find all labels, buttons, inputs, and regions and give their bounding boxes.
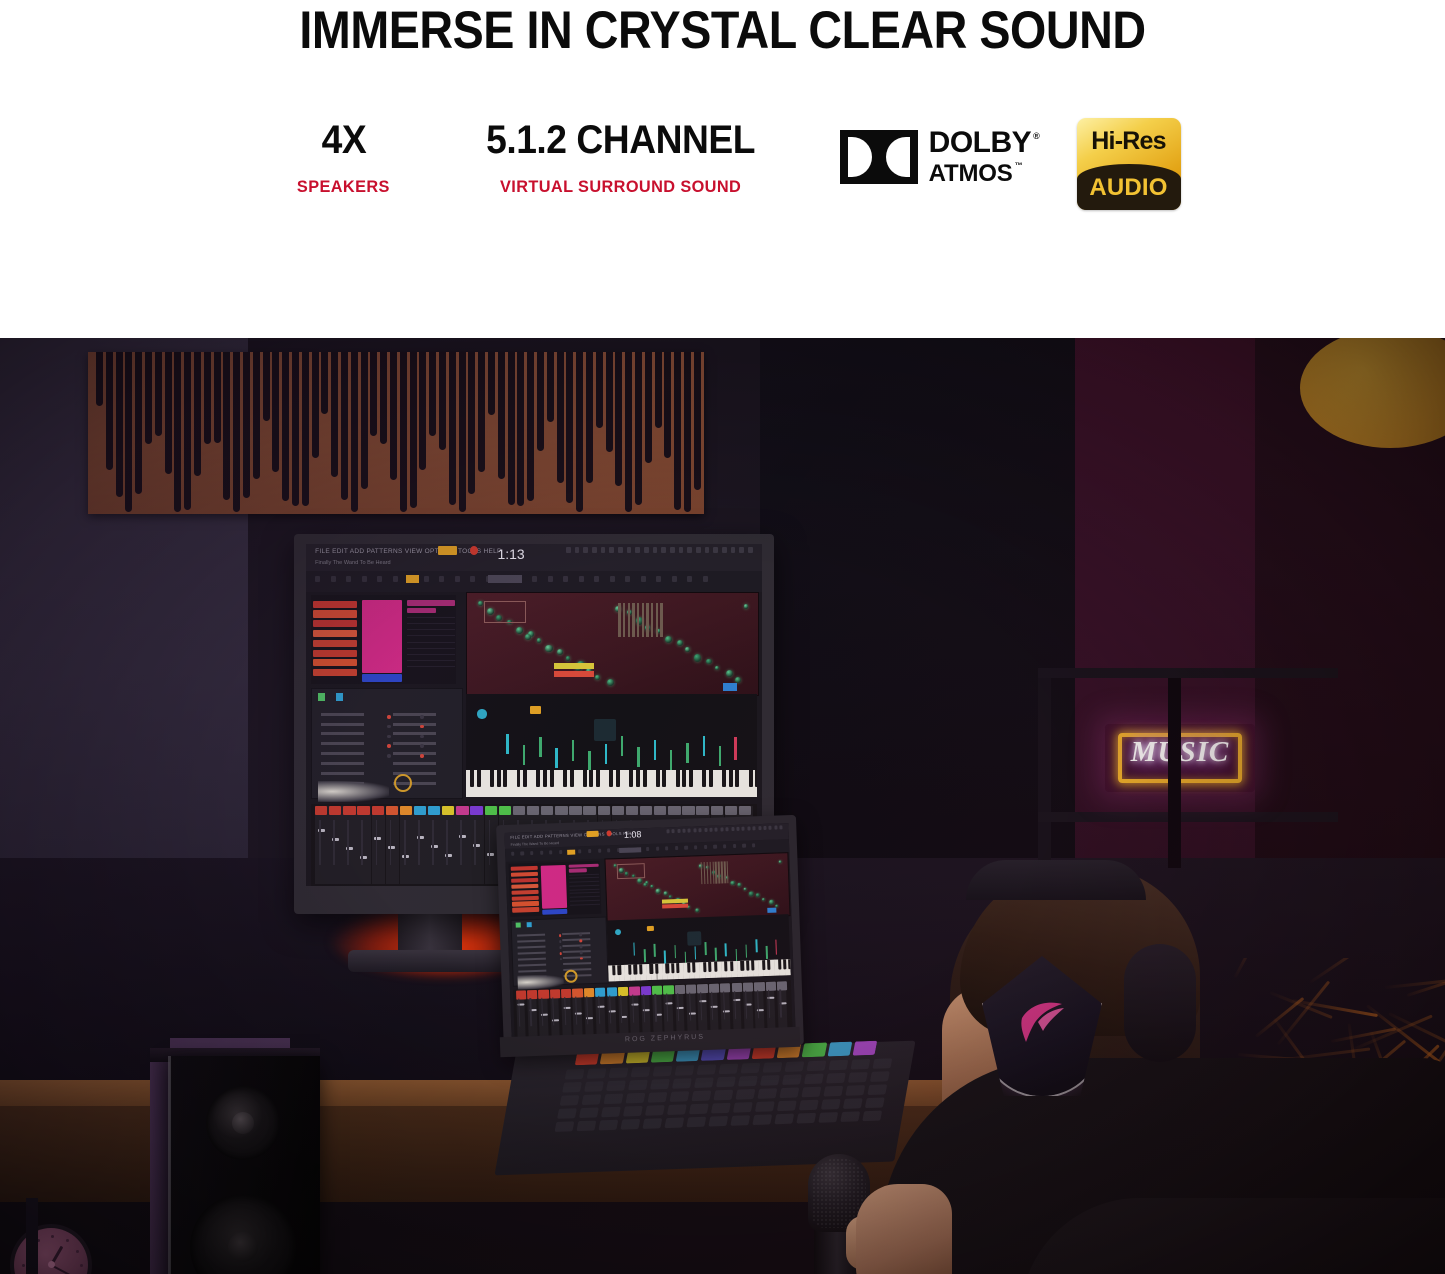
dolby-line2-text: ATMOS [929, 162, 1013, 186]
playlist-clip [313, 659, 357, 666]
dialog-row [563, 938, 591, 941]
daw-toolbar-icon [609, 547, 614, 553]
synth-knob [545, 645, 552, 652]
piano-black-key [762, 960, 766, 970]
synth-knob [769, 900, 774, 905]
piano-black-key [778, 959, 782, 969]
piano-black-key [709, 770, 713, 787]
daw-tool-icon [377, 576, 382, 583]
synth-slider [721, 861, 723, 883]
playlist-pattern-block [362, 600, 403, 673]
dialog-add-icon [318, 693, 326, 701]
mixer-channel-strip [400, 806, 414, 885]
synth-knob [663, 891, 667, 895]
daw-tool-icon [540, 851, 543, 855]
dialog-row [393, 752, 436, 755]
playlist-clip [511, 895, 538, 900]
laptop-key [554, 1121, 574, 1132]
mixer-channel-color [538, 989, 549, 998]
badge-speakers-value: 4X [321, 118, 366, 162]
shelf-board [1038, 812, 1338, 822]
fx-fader [572, 740, 574, 760]
badge-hires-audio: Hi-Res AUDIO [1068, 118, 1190, 210]
laptop-key [675, 1065, 695, 1076]
playlist-gridline [407, 642, 455, 643]
acoustic-slat [615, 352, 622, 486]
fx-fader [605, 744, 607, 764]
dialog-row [321, 752, 364, 755]
daw-playlist-panel [508, 861, 601, 918]
shelf-board-top [1038, 668, 1338, 678]
playlist-clip [313, 610, 357, 617]
synth-knob [749, 891, 754, 896]
mixer-channel-color [654, 806, 666, 815]
synth-knob [762, 898, 765, 901]
piano-black-key [662, 770, 666, 787]
playlist-gridline [570, 896, 600, 898]
daw-toolbar-icon [672, 829, 675, 833]
synth-slider [727, 861, 729, 883]
hires-bottom-text: AUDIO [1077, 174, 1181, 202]
synth-slider [718, 862, 720, 884]
badge-channel: 5.1.2 CHANNEL VIRTUAL SURROUND SOUND [446, 118, 796, 198]
dialog-row [518, 957, 546, 960]
piano-black-key [788, 959, 790, 969]
laptop-key [862, 1111, 882, 1122]
laptop-key [840, 1111, 860, 1122]
dialog-radio [580, 946, 582, 948]
synth-knob [677, 640, 683, 646]
piano-black-key [671, 963, 675, 973]
laptop-key [557, 1108, 577, 1119]
fx-fader [644, 949, 646, 962]
piano-black-key [523, 770, 527, 787]
acoustic-slat [116, 352, 123, 497]
mixer-channel-color [696, 806, 708, 815]
synth-knob [537, 638, 542, 643]
dialog-row [562, 932, 590, 935]
playlist-gridline [569, 888, 599, 890]
piano-black-key [589, 770, 593, 787]
fx-fader [539, 737, 541, 757]
acoustic-slat [96, 352, 103, 406]
acoustic-slat [655, 352, 662, 428]
playlist-gridline [407, 623, 455, 624]
laptop-key [738, 1076, 758, 1087]
synth-value-bar [554, 663, 594, 669]
dialog-add-icon [515, 923, 520, 928]
piano-black-key [687, 963, 691, 973]
daw-tool-icon [742, 844, 745, 848]
synth-knob [613, 864, 616, 867]
playlist-clip [313, 669, 357, 676]
playlist-gridline [407, 654, 455, 655]
playlist-gridline [407, 617, 455, 618]
daw-toolbar-icon [618, 547, 623, 553]
daw-toolbar-icon [566, 547, 571, 553]
synth-knob [779, 860, 782, 863]
daw-toolbar-icon [575, 547, 580, 553]
fx-knob [477, 709, 486, 718]
feature-badge-row: 4X SPEAKERS 5.1.2 CHANNEL VIRTUAL SURROU… [0, 118, 1445, 228]
dialog-row [321, 723, 364, 726]
mixer-channel-color [731, 982, 742, 991]
laptop-key [664, 1117, 684, 1128]
acoustic-slat [194, 352, 201, 476]
playlist-clip [313, 620, 357, 627]
speaker-woofer-cone [228, 1232, 258, 1262]
shelf-post-front [1168, 678, 1181, 868]
piano-black-key [656, 770, 660, 787]
fx-knob [615, 929, 621, 935]
piano-black-key [543, 770, 547, 787]
headphone-stand-arm [26, 1198, 38, 1274]
fx-fader [766, 946, 768, 959]
mixer-fader-track [404, 820, 406, 865]
daw-tool-icon [675, 846, 678, 850]
daw-tool-icon [656, 576, 661, 583]
mixer-channel-strip [343, 806, 357, 885]
speaker-edge-highlight [168, 1056, 171, 1274]
synth-knob [516, 627, 523, 634]
synth-adv-button [723, 683, 737, 691]
clock-tick [76, 1250, 79, 1253]
playlist-gridline [407, 635, 455, 636]
playlist-clip [511, 872, 538, 877]
mixer-channel-color [725, 806, 737, 815]
piano-black-key [517, 770, 521, 787]
daw-application-laptop[interactable]: FILE EDIT ADD PATTERNS VIEW OPTIONS TOOL… [504, 823, 795, 1039]
mixer-channel-color [668, 806, 680, 815]
synth-value-bar [554, 671, 594, 677]
synth-knob [738, 883, 742, 887]
laptop-key [565, 1069, 585, 1080]
hires-top-text: Hi-Res [1077, 127, 1181, 156]
daw-tool-icon [703, 576, 708, 583]
synth-knob [669, 895, 672, 898]
daw-tool-icon [393, 576, 398, 583]
fx-fader [704, 942, 706, 955]
synth-slider [660, 603, 662, 637]
mixer-channel-color [386, 806, 398, 815]
piano-black-key [477, 770, 481, 787]
mixer-channel-color [572, 988, 583, 997]
laptop-key [620, 1119, 640, 1130]
laptop-key [708, 1116, 728, 1127]
acoustic-slat [214, 352, 221, 443]
piano-black-key [702, 770, 706, 787]
piano-black-key [497, 770, 501, 787]
acoustic-slat [390, 352, 397, 480]
piano-black-key [783, 959, 787, 969]
piano-black-key [490, 770, 494, 787]
dialog-radio [387, 754, 391, 758]
laptop-lightbar-segment [802, 1042, 827, 1057]
piano-black-key [676, 770, 680, 787]
daw-toolbar-icon [670, 547, 675, 553]
synth-waveform-display [484, 601, 526, 623]
playlist-clip [542, 909, 568, 915]
playlist-clip [407, 600, 455, 606]
acoustic-slat [165, 352, 172, 474]
daw-tool-icon [563, 576, 568, 583]
piano-black-key [583, 770, 587, 787]
clock-center [48, 1261, 55, 1268]
dialog-row [321, 762, 364, 765]
laptop-keyboard[interactable] [554, 1058, 897, 1136]
dialog-radio [580, 940, 582, 942]
daw-toolbar-icon [763, 826, 766, 830]
daw-toolbar-icon [720, 827, 723, 831]
palm-frond [1234, 958, 1261, 978]
daw-toolbar-icon [704, 828, 707, 832]
laptop-key [691, 1090, 711, 1101]
fx-fader [654, 740, 656, 760]
mixer-channel-color [640, 806, 652, 815]
daw-tool-icon [331, 576, 336, 583]
dialog-row [563, 962, 591, 965]
mixer-channel-color [626, 806, 638, 815]
synth-slider [724, 861, 726, 883]
synth-knob [706, 659, 712, 665]
synth-knob [637, 878, 642, 883]
daw-tool-icon [723, 844, 726, 848]
mixer-channel-strip [456, 806, 470, 885]
mixer-channel-color [682, 806, 694, 815]
acoustic-slat [145, 352, 152, 444]
dialog-row [518, 946, 546, 949]
mixer-channel-color [711, 806, 723, 815]
acoustic-slat [645, 352, 652, 463]
dialog-row [321, 742, 364, 745]
fx-toggle [647, 925, 654, 930]
daw-toolbar-icon [713, 547, 718, 553]
daw-tool-icon [549, 851, 552, 855]
mixer-channel-color [598, 806, 610, 815]
piano-black-key [749, 770, 753, 787]
mixer-channel-strip [414, 806, 428, 885]
daw-tool-icon [594, 576, 599, 583]
playlist-gridline [570, 900, 600, 902]
acoustic-slat [292, 352, 299, 506]
playlist-clip [512, 901, 539, 906]
dialog-row [393, 742, 436, 745]
synth-knob [525, 634, 531, 640]
piano-black-key [639, 964, 643, 974]
acoustic-slat [253, 352, 260, 479]
playlist-clip [569, 869, 587, 873]
clock-tick [22, 1264, 25, 1267]
synth-knob [566, 656, 571, 661]
piano-black-key [629, 770, 633, 787]
mixer-fader-track [361, 820, 363, 865]
laptop-key [642, 1118, 662, 1129]
laptop-key [601, 1107, 621, 1118]
daw-tool-icon [520, 852, 523, 856]
fx-fader [633, 943, 635, 956]
daw-toolbar-icon [627, 547, 632, 553]
daw-tool-icon [646, 847, 649, 851]
laptop-key [752, 1114, 772, 1125]
dialog-radio [387, 725, 391, 729]
laptop-key [818, 1112, 838, 1123]
laptop-key [867, 1084, 887, 1095]
dialog-row [393, 762, 436, 765]
rog-eye-svg [1016, 998, 1070, 1044]
daw-tool-icon [733, 844, 736, 848]
piano-black-key [682, 770, 686, 787]
acoustic-slat [184, 352, 191, 510]
acoustic-slat [282, 352, 289, 501]
synth-waveform-display [617, 863, 646, 879]
badge-channel-value: 5.1.2 CHANNEL [486, 118, 755, 162]
mixer-channel-color [720, 983, 731, 992]
badge-speakers: 4X SPEAKERS [256, 118, 432, 198]
acoustic-slat [576, 352, 583, 512]
mixer-channel-strip [386, 806, 400, 885]
playlist-clip [313, 640, 357, 647]
laptop-key [796, 1113, 816, 1124]
daw-active-tool [406, 575, 418, 583]
dialog-row [393, 723, 436, 726]
fx-fader [670, 750, 672, 770]
laptop-key [579, 1107, 599, 1118]
mixer-channel-color [315, 806, 327, 815]
daw-tool-icon [530, 851, 533, 855]
synth-knob [650, 885, 653, 888]
fx-fader [654, 944, 656, 957]
palm-frond [1309, 958, 1358, 984]
dialog-row [563, 944, 591, 947]
acoustic-slat [606, 352, 613, 452]
dialog-row [393, 713, 436, 716]
piano-black-key [612, 965, 616, 975]
laptop-key [716, 1077, 736, 1088]
acoustic-slat [312, 352, 319, 458]
daw-menu-items: FILE EDIT ADD PATTERNS VIEW OPTIONS TOOL… [510, 831, 635, 840]
playlist-clip [511, 878, 538, 883]
dialog-radio [559, 934, 561, 936]
badge-dolby-atmos: DOLBY ® ATMOS ™ [840, 118, 1040, 186]
mixer-channel-color [442, 806, 454, 815]
acoustic-slat [429, 352, 436, 436]
acoustic-slat [135, 352, 142, 494]
piano-black-key [751, 960, 755, 970]
fx-fader [686, 743, 688, 763]
daw-toolbar-icon [693, 828, 696, 832]
daw-active-tool [568, 849, 576, 854]
mixer-channel-color [686, 984, 697, 993]
dialog-row [518, 951, 546, 954]
mixer-fader-track [474, 820, 476, 865]
laptop-key [584, 1081, 604, 1092]
fx-fader [637, 747, 639, 767]
clock-tick [66, 1239, 69, 1242]
mixer-channel-color [550, 989, 561, 998]
dialog-row [519, 963, 547, 966]
mixer-channel-color [485, 806, 497, 815]
acoustic-slat [361, 352, 368, 489]
laptop-key [740, 1063, 760, 1074]
laptop-key [826, 1073, 846, 1084]
playlist-clip [313, 601, 357, 608]
laptop-key [603, 1094, 623, 1105]
piano-black-key [618, 965, 622, 975]
piano-black-key [596, 770, 600, 787]
laptop-key [713, 1090, 733, 1101]
daw-toolbar-icon [653, 547, 658, 553]
piano-black-key [536, 770, 540, 787]
fx-output-meter [734, 737, 736, 760]
acoustic-slat [243, 352, 250, 498]
synth-slider [715, 862, 717, 884]
synth-slider [656, 603, 658, 637]
dialog-row [321, 713, 364, 716]
acoustic-slat [596, 352, 603, 428]
fx-toggle [530, 706, 541, 714]
piano-black-key [729, 770, 733, 787]
laptop-key [779, 1087, 799, 1098]
acoustic-slat [557, 352, 564, 483]
acoustic-slat [488, 352, 495, 415]
fx-fader [588, 751, 590, 771]
daw-tempo-field [438, 546, 457, 555]
mixer-channel-color [583, 806, 595, 815]
daw-tool-icon [362, 576, 367, 583]
mixer-channel-color [765, 981, 776, 990]
acoustic-slat [331, 352, 338, 477]
playlist-clip [511, 890, 538, 895]
mixer-fader-track [319, 820, 321, 865]
dialog-radio [559, 952, 561, 954]
piano-black-key [655, 964, 659, 974]
laptop-key [774, 1114, 794, 1125]
daw-toolbar-icon [753, 826, 756, 830]
daw-toolbar-icon [666, 829, 669, 833]
daw-synth-plugin [605, 852, 791, 922]
laptop-key [689, 1104, 709, 1115]
laptop-key [850, 1059, 870, 1070]
acoustic-slat [635, 352, 642, 505]
daw-toolbar-icon [705, 547, 710, 553]
dolby-line2: ATMOS ™ [929, 162, 1040, 186]
mixer-channel-strip [372, 806, 386, 885]
mixer-channel-strip [357, 806, 371, 885]
fx-xy-pad [687, 932, 701, 946]
daw-toolbar-icon [592, 547, 597, 553]
synth-knob [695, 908, 700, 913]
synth-knob [743, 887, 746, 890]
dialog-waveform [318, 781, 389, 803]
acoustic-slat [272, 352, 279, 472]
mixer-fader-track [489, 820, 491, 865]
synth-slider [642, 603, 644, 637]
acoustic-slat [694, 352, 701, 490]
dialog-row [518, 940, 546, 943]
dialog-radio [560, 958, 562, 960]
mixer-channel-color [372, 806, 384, 815]
playlist-gridline [569, 892, 599, 894]
mixer-channel-color [516, 990, 527, 999]
mixer-channel-color [400, 806, 412, 815]
synth-slider [628, 603, 630, 637]
hires-audio-logo: Hi-Res AUDIO [1077, 118, 1181, 210]
mixer-channel-color [595, 987, 606, 996]
badge-speakers-label: SPEAKERS [297, 176, 390, 198]
mixer-channel-color [527, 990, 538, 999]
acoustic-slat [155, 352, 162, 436]
dialog-radio [420, 735, 424, 739]
